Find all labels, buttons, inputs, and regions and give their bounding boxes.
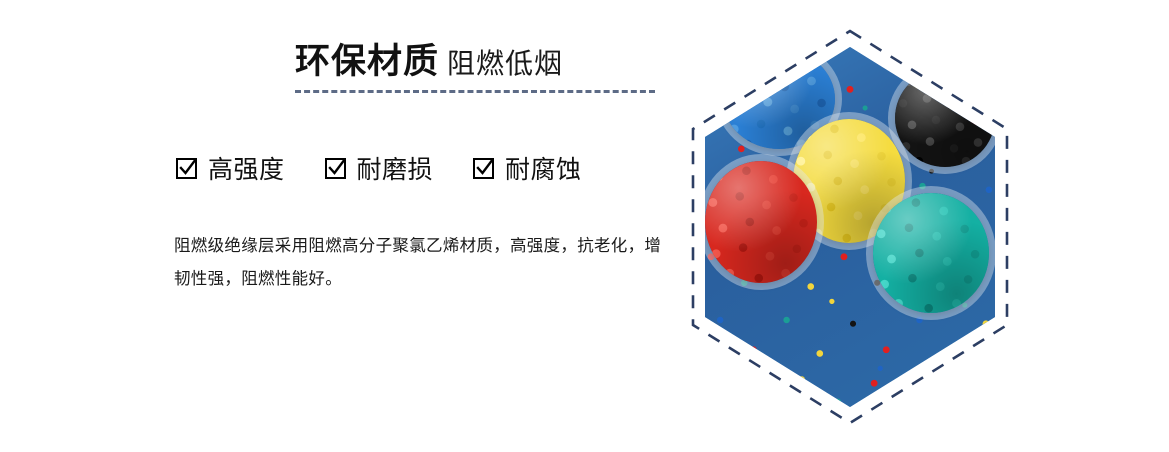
page-title: 环保材质阻燃低烟 xyxy=(295,44,657,79)
checked-box-icon xyxy=(176,158,197,179)
checked-box-icon xyxy=(473,158,494,179)
bowl-teal-pellets xyxy=(873,193,989,313)
feature-item-strength: 高强度 xyxy=(176,150,285,186)
feature-label: 耐腐蚀 xyxy=(505,150,582,186)
feature-item-wear-resistant: 耐磨损 xyxy=(325,150,434,186)
product-feature-banner: 环保材质阻燃低烟 高强度 耐磨损 xyxy=(0,0,1169,452)
title-dashed-underline xyxy=(295,90,655,93)
title-block: 环保材质阻燃低烟 xyxy=(295,44,657,93)
description-paragraph: 阻燃级绝缘层采用阻燃高分子聚氯乙烯材质，高强度，抗老化，增韧性强，阻燃性能好。 xyxy=(174,230,674,296)
title-sub-text: 阻燃低烟 xyxy=(447,48,563,79)
feature-label: 耐磨损 xyxy=(357,150,434,186)
text-column: 环保材质阻燃低烟 高强度 耐磨损 xyxy=(0,0,690,452)
hexagon-image-group xyxy=(690,28,1010,426)
feature-list: 高强度 耐磨损 耐腐蚀 xyxy=(176,150,582,186)
feature-label: 高强度 xyxy=(208,150,285,186)
checked-box-icon xyxy=(325,158,346,179)
feature-item-corrosion-resistant: 耐腐蚀 xyxy=(473,150,582,186)
bowl-red-pellets xyxy=(705,161,817,283)
title-main-text: 环保材质 xyxy=(295,42,439,81)
